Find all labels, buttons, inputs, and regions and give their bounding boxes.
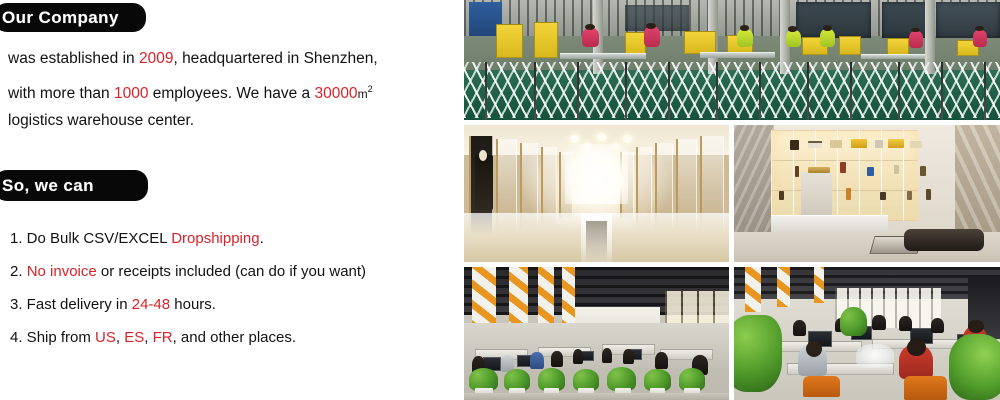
list-item: 1. Do Bulk CSV/EXCEL Dropshipping. [10,228,264,250]
intro-line2-pre: with more than [8,85,114,102]
bullet-3-pre: Fast delivery in [23,296,132,313]
so-we-can-badge: So, we can [0,170,148,201]
warehouse-area-unit-exponent: 2 [368,84,373,94]
intro-line3-text: logistics warehouse center. [8,112,194,129]
bullet-3-number: 3. [10,296,23,313]
warehouse-area-value: 30000 [314,85,357,102]
factory-warehouse-photo [464,0,1000,120]
bullet-1-post: . [260,230,264,247]
list-item: 2. No invoice or receipts included (can … [10,261,366,283]
intro-line2-mid: employees. We have a [148,85,314,102]
bullet-4-country-es: ES [124,329,144,346]
bullet-4-country-fr: FR [153,329,173,346]
intro-line1-pre: was established in [8,50,139,67]
bullet-4-sep-1: , [116,329,124,346]
bullet-1-pre: Do Bulk CSV/EXCEL [23,230,172,247]
bullet-3-highlight: 24-48 [132,296,170,313]
open-plan-office-left-photo [464,267,729,400]
list-item: 4. Ship from US, ES, FR, and other place… [10,327,296,349]
bullet-1-number: 1. [10,230,23,247]
bullet-4-number: 4. [10,329,23,346]
intro-line1-post: , headquartered in Shenzhen, [173,50,377,67]
bullet-4-pre: Ship from [23,329,96,346]
founding-year: 2009 [139,50,173,67]
bullet-4-post: , and other places. [173,329,296,346]
intro-line-1: was established in 2009, headquartered i… [8,43,460,74]
our-company-badge: Our Company [0,3,146,32]
bullet-2-number: 2. [10,263,23,280]
bullet-4-country-us: US [95,329,116,346]
bullet-2-highlight: No invoice [27,263,97,280]
bullet-2-post: or receipts included (can do if you want… [97,263,366,280]
product-showroom-photo [734,125,1000,262]
left-text-panel: Our Company was established in 2009, hea… [0,0,462,400]
warehouse-area-unit: m [358,87,368,101]
bullet-3-post: hours. [170,296,216,313]
warehouse-corridor-photo [464,125,729,262]
open-plan-office-right-photo [734,267,1000,400]
intro-line-3: logistics warehouse center. [8,105,460,136]
photo-grid [464,0,1000,400]
our-company-badge-label: Our Company [2,8,119,28]
company-info-banner: Our Company was established in 2009, hea… [0,0,1000,400]
bullet-4-sep-2: , [144,329,152,346]
bullet-1-highlight: Dropshipping [171,230,259,247]
list-item: 3. Fast delivery in 24-48 hours. [10,294,216,316]
employee-count: 1000 [114,85,148,102]
so-we-can-badge-label: So, we can [2,176,94,196]
